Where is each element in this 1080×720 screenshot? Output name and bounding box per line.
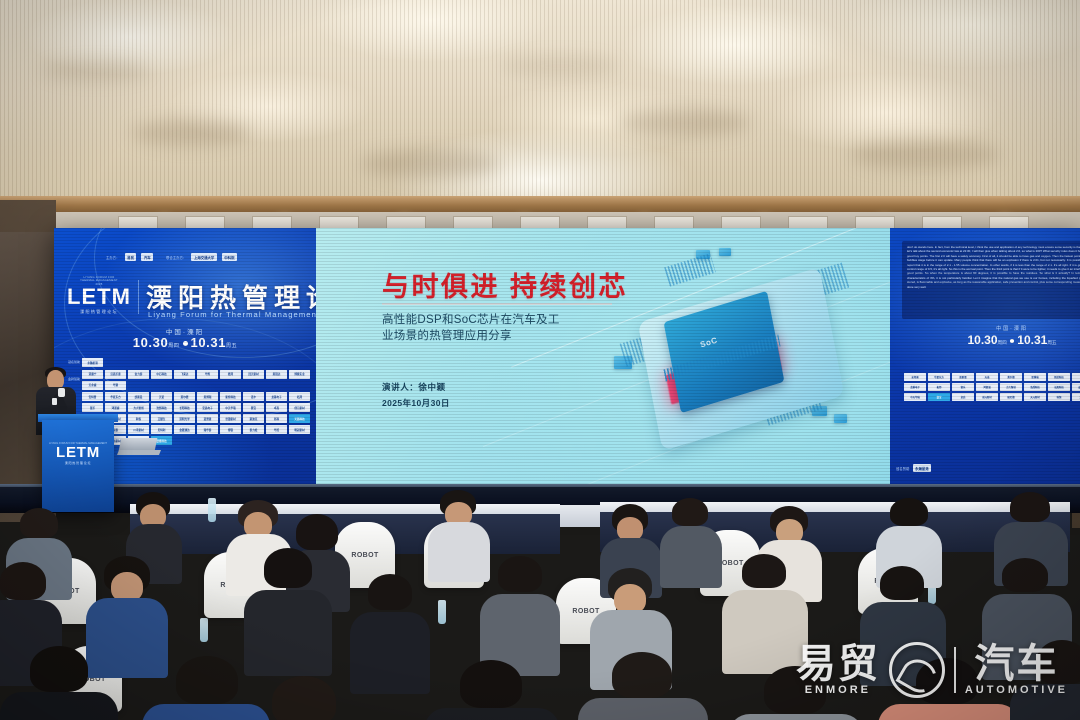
person-hair (1010, 492, 1050, 522)
watermark-en-left: ENMORE (805, 685, 871, 696)
person-hair (1002, 558, 1048, 592)
slide-date: 2025年10月30日 (382, 397, 450, 409)
sponsor-logo-cell: 拓邦 (289, 392, 310, 401)
sponsor-logo-cell: 瑞华泰 (197, 425, 218, 434)
sponsor-logo-cell: 诺丰 (1072, 373, 1080, 381)
forum-dates: 10.30周四10.31周五 (54, 335, 316, 350)
sponsor-logo-cell: 拓邦 (928, 383, 950, 391)
sponsor-logo-cell: 富乐 (952, 383, 974, 391)
right-sponsor-grid: 安特普华夏东方凯斯曼天诺莱尔德思博瑞新纶科技诺丰龙基电子拓邦富乐鸿富诚方大智创浩… (904, 373, 1080, 401)
led-video-wall: 主办方： 易贸 汽车 联合主办方： 上海交通大学 中科院 LIYANG FORU… (54, 228, 1080, 493)
sponsor-logo-cell: 艾默生 (151, 414, 172, 423)
watermark-cn-right: 汽车 (974, 645, 1058, 683)
right-date-first: 10.30 (967, 333, 997, 347)
sponsor-logo-cell: 创元新材 (976, 393, 998, 401)
table-cloth (130, 504, 560, 514)
sponsor-logo-cell: 赛宝 (243, 403, 264, 412)
sponsor-logo-cell: 科恒 (128, 414, 149, 423)
person-body (142, 704, 270, 720)
sponsor-logo-cell: 新纶科技 (1048, 373, 1070, 381)
person-hair (742, 554, 786, 588)
sponsor-logo-cell: 天铭科技 (289, 414, 310, 423)
sponsor-logo-cell: 飞荣达 (174, 370, 195, 379)
sponsor-cells: 道康宁汉高乐泰金力泰中石科技飞荣达华烁德邦回天新材思锐达博恩实业天永诚华源 (82, 370, 311, 390)
sponsor-logo-cell: 艾默生 (1072, 393, 1080, 401)
heatsink-fins (664, 253, 716, 286)
sponsor-logo-cell: 川禾新材 (128, 425, 149, 434)
sponsor-chip: 上海交通大学 (191, 253, 216, 261)
slide-title-rule (382, 303, 612, 305)
sponsor-logo-cell: 兆科 (266, 414, 287, 423)
sponsor-logo-cell: 方大智创 (128, 403, 149, 412)
right-date-first-day: 周四 (998, 340, 1007, 345)
slide-subtitle: 高性能DSP和SoC芯片在汽车及工 业场景的热管理应用分享 (382, 312, 597, 345)
sponsor-logo-cell: 硕贝德 (1000, 393, 1022, 401)
sponsor-logo-cell: 赛宝 (928, 393, 950, 401)
person-body (86, 598, 168, 678)
date-separator-dot-icon (1010, 339, 1015, 344)
sponsor-logo-cell: 世锦新材 (220, 414, 241, 423)
person-body (350, 612, 430, 694)
person-hair (460, 660, 522, 708)
date-separator-dot-icon (183, 341, 188, 346)
sponsor-logo-cell: 凯斯曼 (952, 373, 974, 381)
person-hair (30, 646, 88, 692)
transcript-text: don't do stands here. In fact, from the … (907, 245, 1080, 289)
person-body (424, 708, 560, 720)
sponsor-logo-cell: 华烁 (197, 370, 218, 379)
sponsor-logo-cell: 天诺 (976, 373, 998, 381)
right-slide-dates: 10.30周四10.31周五 (890, 333, 1080, 347)
person-hair (264, 548, 312, 588)
sponsor-bar: 主办方： 易贸 汽车 联合主办方： 上海交通大学 中科院 (106, 253, 237, 261)
sponsor-logo-cell: 汉高乐泰 (105, 370, 126, 379)
person-hair (890, 498, 928, 526)
led-center-slide: SoC 与时俱进 持续创芯 高性能DSP和SoC芯片在汽车及工 业场景的热管理应… (316, 228, 890, 493)
sponsor-logo-cell: 斯迪克 (243, 414, 264, 423)
sponsor-logo-cell: 卓高 (266, 403, 287, 412)
person-body (578, 698, 708, 720)
sponsor-logo-cell: 龙基电子 (266, 392, 287, 401)
date-first-day: 周四 (168, 343, 179, 349)
sponsor-logo-cell: 道康宁 (82, 370, 103, 379)
sponsor-logo-cell: 科恒 (1048, 393, 1070, 401)
sponsor-logo-cell: 新纶科技 (220, 392, 241, 401)
person-hair (0, 562, 46, 600)
slide-speaker: 演讲人：徐中颖 (382, 381, 446, 393)
sponsor-logo-cell: 龙基电子 (904, 383, 926, 391)
sponsor-logo-cell: 富乐 (82, 403, 103, 412)
enmore-swirl-icon (889, 642, 945, 698)
person-body (244, 590, 332, 676)
sponsor-logo-cell: 浩然科技 (1024, 383, 1046, 391)
sponsor-logo-cell: 华夏东方 (928, 373, 950, 381)
person-hair (272, 676, 336, 720)
sponsor-logo-cell: 贝特利 (151, 425, 172, 434)
sponsor-cells: 永瀚星港 (82, 358, 103, 367)
person-hair (20, 508, 58, 538)
sponsor-logo-cell: 博锐 (220, 425, 241, 434)
right-slide-place: 中国·溧阳 (890, 325, 1080, 332)
person-body (0, 692, 118, 720)
watermark-en-right: AUTOMOTIVE (965, 685, 1068, 696)
sponsor-logo-cell: 天永诚 (82, 381, 103, 390)
sponsor-chip: 易贸 (125, 253, 137, 261)
sponsor-logo-cell: 创元新材 (289, 403, 310, 412)
smd-component-icon (719, 248, 731, 256)
sponsor-logo-cell: 天诺 (151, 392, 172, 401)
sponsor-logo-cell: 华夏东方 (105, 392, 126, 401)
sponsor-logo-cell: 长阳科技 (1048, 383, 1070, 391)
water-bottle (208, 498, 216, 522)
sponsor-logo-cell: 泰力松 (243, 425, 264, 434)
person-hair (880, 566, 924, 600)
water-bottle (200, 618, 208, 642)
letm-logo-sub: 溧阳热管理论坛 (66, 309, 132, 315)
sponsor-logo-cell: 安特普 (904, 373, 926, 381)
sponsor-logo-cell: 安特普 (82, 392, 103, 401)
sponsor-logo-cell: 金力泰 (128, 370, 149, 379)
watermark-cn-left: 易贸 (796, 645, 880, 683)
sponsor-logo-cell: 蓝普锋 (197, 414, 218, 423)
person-body (428, 522, 490, 582)
podium-logo-sub: 溧阳热管理论坛 (42, 461, 114, 465)
sponsor-logo-cell: 华源 (105, 381, 126, 390)
sponsor-logo-cell: 中石科技 (151, 370, 172, 379)
sponsor-grid-row: 金牌赞助道康宁汉高乐泰金力泰中石科技飞荣达华烁德邦回天新材思锐达博恩实业天永诚华… (66, 370, 311, 390)
slide-title: 与时俱进 持续创芯 (382, 265, 628, 304)
sponsor-logo-cell: 宏昌电子 (197, 403, 218, 412)
sponsor-logo-cell: 卓高 (952, 393, 974, 401)
date-second: 10.31 (191, 335, 227, 350)
sponsor-label-cohost: 联合主办方： (166, 255, 186, 260)
sponsor-logo-cell: 德邦 (220, 370, 241, 379)
sponsor-grid-row: 冠名赞助永瀚星港 (66, 358, 311, 367)
date-second-day: 周五 (226, 343, 237, 349)
person-hair (176, 656, 238, 704)
person-hair (672, 498, 708, 526)
sponsor-logo-cell: 鸿富诚 (976, 383, 998, 391)
sponsor-logo-cell: 永瀚星港 (82, 358, 103, 367)
slide-subtitle-line1: 高性能DSP和SoC芯片在汽车及工 (382, 312, 597, 328)
sponsor-logo-cell: 思博瑞 (1024, 373, 1046, 381)
conference-photo: 主办方： 易贸 汽车 联合主办方： 上海交通大学 中科院 LIYANG FORU… (0, 0, 1080, 720)
person-body (660, 526, 722, 588)
logo-divider (138, 280, 139, 314)
watermark-divider (954, 647, 956, 693)
slide-subtitle-line2: 业场景的热管理应用分享 (382, 328, 597, 344)
sponsor-logo-cell: 诺丰 (243, 392, 264, 401)
speaker-badge (52, 398, 57, 405)
right-date-second: 10.31 (1017, 333, 1047, 347)
sponsor-chip: 汽车 (141, 253, 153, 261)
watermark: 易贸 ENMORE 汽车 AUTOMOTIVE (796, 642, 1068, 698)
ceiling (0, 0, 1080, 205)
sponsor-logo-cell: 道明光学 (174, 414, 195, 423)
sponsor-logo-cell: 莱尔德 (1000, 373, 1022, 381)
person-hair (296, 514, 338, 550)
sponsor-logo-cell: 明冠新材 (289, 425, 310, 434)
letm-logo-mark: LETM (66, 286, 132, 308)
sponsor-logo-cell: 天元新材 (1024, 393, 1046, 401)
sponsor-chip: 中科院 (222, 253, 237, 261)
smd-component-icon (834, 414, 847, 423)
podium-logo: LIYANG FORUM FOR THERMAL MANAGEMENT LETM… (42, 442, 114, 465)
sponsor-logo-cell: 方大智创 (1000, 383, 1022, 391)
person-hair (612, 652, 672, 698)
sponsor-logo-cell: 思锐达 (266, 370, 287, 379)
right-date-second-day: 周五 (1047, 340, 1056, 345)
sponsor-tier-label: 金牌赞助 (66, 378, 80, 381)
person-body (728, 714, 864, 720)
microphone-icon (58, 388, 65, 397)
sponsor-logo-cell: 中天华瑞 (220, 403, 241, 412)
sponsor-logo-cell: 华控 (266, 425, 287, 434)
sponsor-logo-cell: 思博瑞 (197, 392, 218, 401)
sponsor-logo-cell: 博恩实业 (289, 370, 310, 379)
person-body (878, 704, 1020, 720)
chip-illustration: SoC (604, 246, 879, 476)
sponsor-logo-cell: 中天华瑞 (904, 393, 926, 401)
sponsor-logo-cell: 回天新材 (243, 370, 264, 379)
watermark-enmore: 易贸 ENMORE (796, 645, 880, 696)
sponsor-logo-cell: 莱尔德 (174, 392, 195, 401)
transcript-box: don't do stands here. In fact, from the … (902, 241, 1080, 319)
sponsor-label-host: 主办方： (106, 255, 120, 260)
led-right-slide: don't do stands here. In fact, from the … (890, 228, 1080, 493)
watermark-automotive: 汽车 AUTOMOTIVE (965, 645, 1068, 696)
sponsor-logo-cell: 长阳科技 (174, 403, 195, 412)
right-sponsor-cells: 安特普华夏东方凯斯曼天诺莱尔德思博瑞新纶科技诺丰龙基电子拓邦富乐鸿富诚方大智创浩… (904, 373, 1080, 401)
water-bottle (438, 600, 446, 624)
sponsor-logo-cell: 凯斯曼 (128, 392, 149, 401)
sponsor-logo-cell: 鸿富诚 (105, 403, 126, 412)
sponsor-tier-label: 冠名赞助 (66, 361, 80, 364)
sponsor-logo-cell: 宏昌电子 (1072, 383, 1080, 391)
presenter-laptop-base (117, 450, 161, 455)
podium-logo-mark: LETM (42, 445, 114, 460)
table-cloth (600, 502, 1070, 512)
person-hair (368, 574, 412, 610)
letm-logo: LIYANG FORUM FOR THERMAL MANAGEMENT 2025… (66, 276, 132, 315)
date-first: 10.30 (133, 335, 169, 350)
sponsor-logo-cell: 浩然科技 (151, 403, 172, 412)
person-hair (498, 556, 542, 592)
sponsor-logo-cell: 金菱通达 (174, 425, 195, 434)
forum-title-en: Liyang Forum for Thermal Management 2025 (148, 310, 316, 319)
